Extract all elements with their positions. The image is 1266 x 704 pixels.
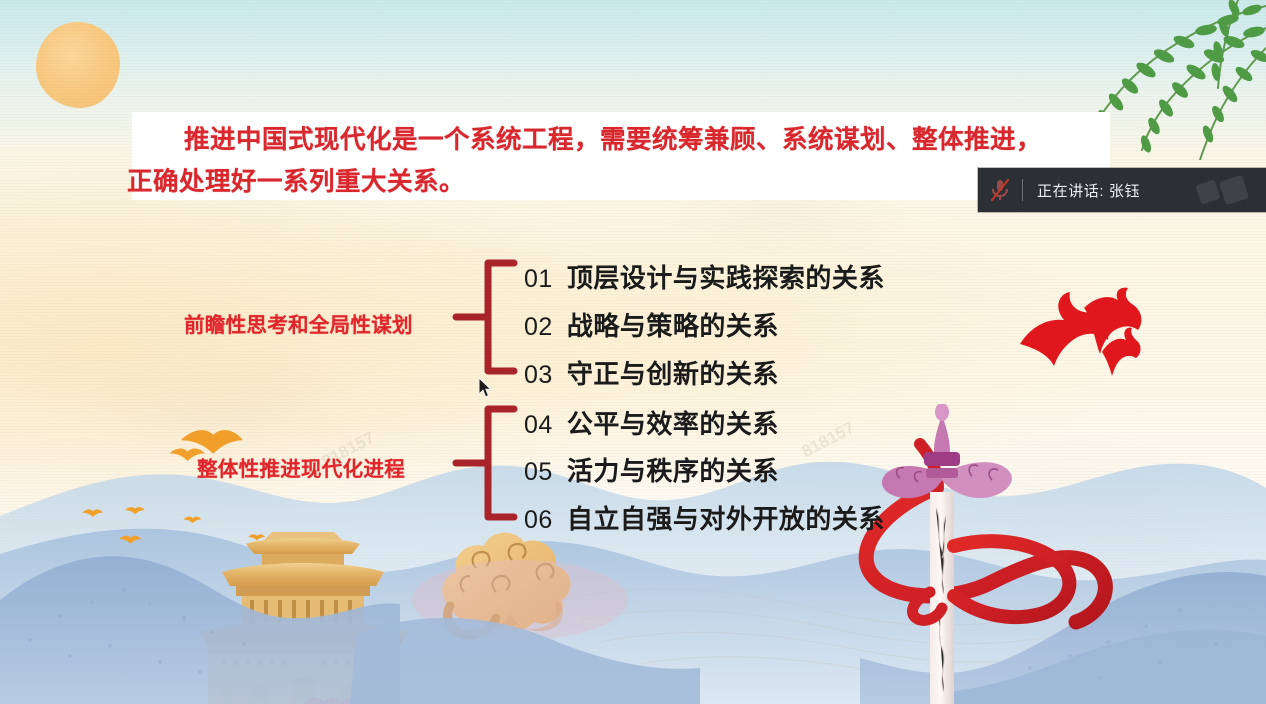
microphone-muted-icon	[978, 168, 1022, 212]
group-1-label: 前瞻性思考和全局性谋划	[184, 308, 413, 338]
group-2-brace-icon	[452, 404, 518, 522]
presentation-slide: 818157 818157 推进中国式现代化是一个系统工程，需要统筹兼顾、系统谋…	[0, 0, 1266, 704]
group-2-label: 整体性推进现代化进程	[197, 452, 405, 482]
list-item-label: 公平与效率的关系	[567, 404, 779, 441]
list-item-label: 活力与秩序的关系	[567, 451, 779, 488]
list-item-number: 02	[524, 313, 553, 342]
overlay-corner-diamonds-icon	[1196, 174, 1258, 206]
page-title-line1: 推进中国式现代化是一个系统工程，需要统筹兼顾、系统谋划、整体推进，	[184, 119, 1042, 156]
list-item[interactable]: 06 自立自强与对外开放的关系	[524, 499, 885, 536]
list-item[interactable]: 03 守正与创新的关系	[524, 354, 779, 391]
list-item-label: 战略与策略的关系	[567, 306, 779, 343]
list-item[interactable]: 01 顶层设计与实践探索的关系	[524, 258, 885, 295]
slide-title-box: 推进中国式现代化是一个系统工程，需要统筹兼顾、系统谋划、整体推进， 正确处理好一…	[132, 112, 1110, 200]
list-item-label: 自立自强与对外开放的关系	[567, 499, 885, 536]
active-speaker-overlay[interactable]: 正在讲话: 张钰	[978, 168, 1266, 212]
list-item-number: 05	[524, 458, 553, 487]
list-item-label: 顶层设计与实践探索的关系	[567, 258, 885, 295]
list-item-number: 01	[524, 265, 553, 294]
speaker-name-label: 正在讲话: 张钰	[1023, 180, 1140, 201]
list-item-label: 守正与创新的关系	[567, 354, 779, 391]
list-item[interactable]: 05 活力与秩序的关系	[524, 451, 779, 488]
list-item[interactable]: 04 公平与效率的关系	[524, 404, 779, 441]
slide-content: 前瞻性思考和全局性谋划 01 顶层设计与实践探索的关系 02 战略与策略的关系 …	[0, 0, 1266, 704]
mouse-cursor	[478, 377, 492, 404]
group-1-brace-icon	[452, 258, 518, 376]
list-item-number: 04	[524, 411, 553, 440]
list-item[interactable]: 02 战略与策略的关系	[524, 306, 779, 343]
list-item-number: 03	[524, 361, 553, 390]
list-item-number: 06	[524, 506, 553, 535]
page-title-line2: 正确处理好一系列重大关系。	[127, 161, 465, 198]
